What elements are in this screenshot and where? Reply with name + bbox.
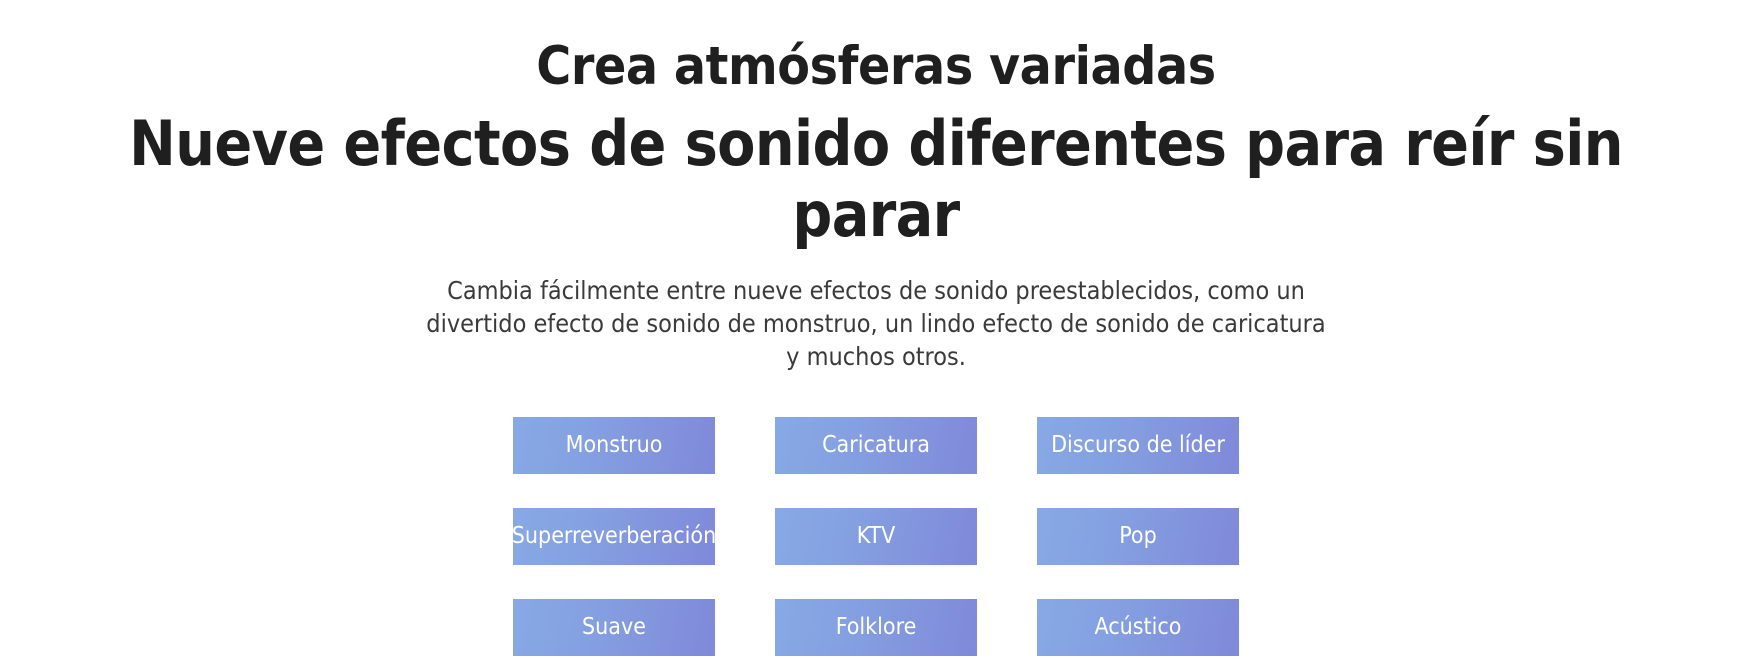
effect-button-caricatura[interactable]: Caricatura bbox=[775, 417, 977, 474]
effect-button-discurso-de-lider[interactable]: Discurso de líder bbox=[1037, 417, 1239, 474]
effect-button-ktv[interactable]: KTV bbox=[775, 508, 977, 565]
effect-button-label: Folklore bbox=[836, 616, 917, 639]
effect-button-superreverberacion[interactable]: Superreverberación bbox=[513, 508, 715, 565]
effect-button-label: Caricatura bbox=[822, 434, 930, 457]
effect-button-suave[interactable]: Suave bbox=[513, 599, 715, 656]
effect-button-pop[interactable]: Pop bbox=[1037, 508, 1239, 565]
effect-button-label: Pop bbox=[1119, 525, 1156, 548]
effect-button-monstruo[interactable]: Monstruo bbox=[513, 417, 715, 474]
hero-section: Crea atmósferas variadas Nueve efectos d… bbox=[0, 0, 1752, 373]
page-root: Crea atmósferas variadas Nueve efectos d… bbox=[0, 0, 1752, 667]
effect-button-label: Discurso de líder bbox=[1051, 434, 1225, 457]
effect-button-acustico[interactable]: Acústico bbox=[1037, 599, 1239, 656]
effect-button-folklore[interactable]: Folklore bbox=[775, 599, 977, 656]
effect-button-label: Monstruo bbox=[566, 434, 663, 457]
eyebrow-title: Crea atmósferas variadas bbox=[0, 36, 1752, 97]
sound-effects-grid: Monstruo Caricatura Discurso de líder Su… bbox=[513, 417, 1239, 656]
effect-button-label: Acústico bbox=[1095, 616, 1182, 639]
effect-button-label: Superreverberación bbox=[512, 525, 716, 548]
effect-button-label: Suave bbox=[582, 616, 646, 639]
hero-subtitle: Cambia fácilmente entre nueve efectos de… bbox=[408, 274, 1345, 373]
effect-button-label: KTV bbox=[857, 525, 896, 548]
page-title: Nueve efectos de sonido diferentes para … bbox=[0, 109, 1752, 250]
